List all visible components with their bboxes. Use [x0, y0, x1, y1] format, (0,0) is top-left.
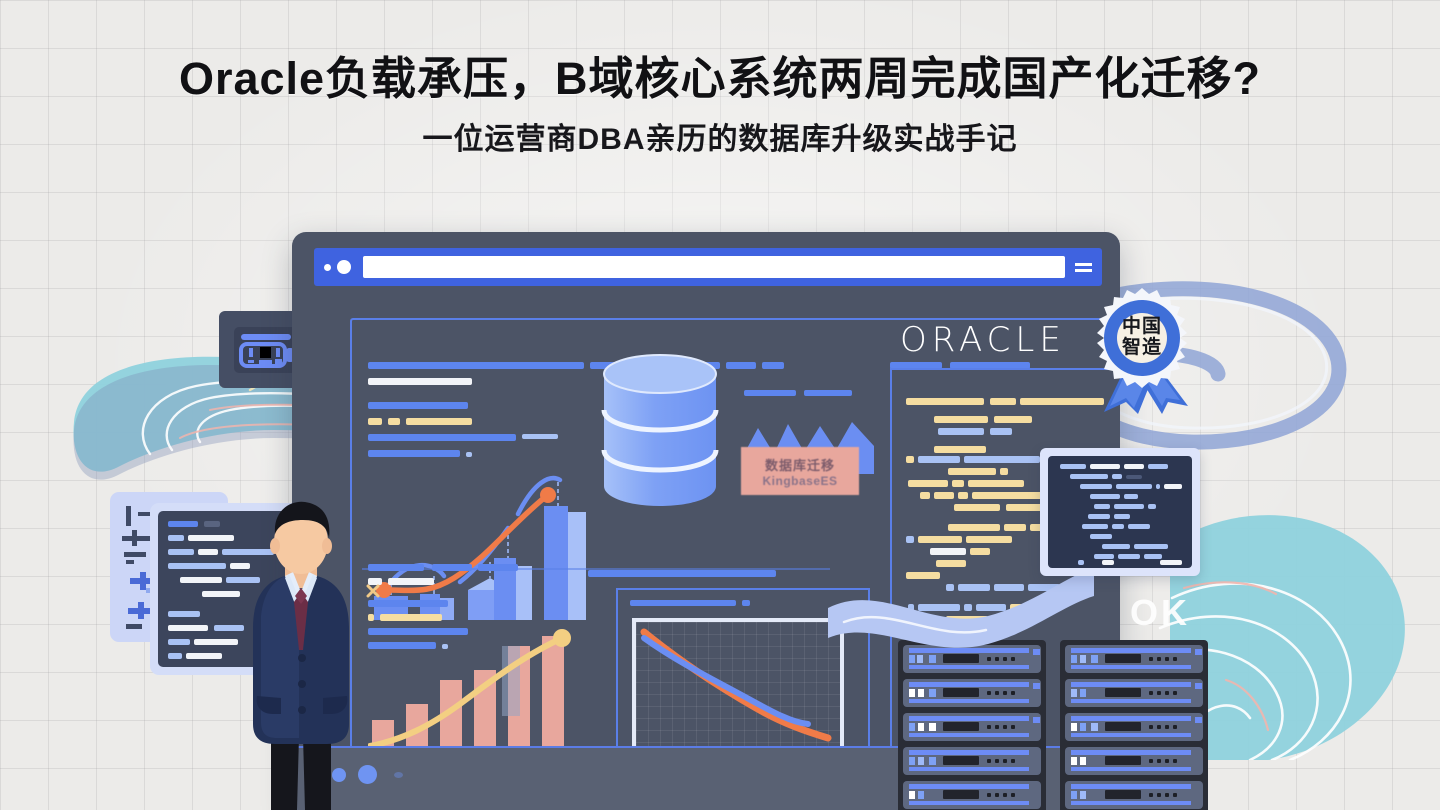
kingbase-label-cn: 数据库迁移	[765, 455, 835, 474]
latency-chart-plot	[632, 618, 844, 752]
businessman-avatar	[235, 500, 365, 810]
page-subtitle: 一位运营商DBA亲历的数据库升级实战手记	[0, 114, 1440, 158]
hamburger-menu-icon[interactable]	[1075, 263, 1092, 272]
server-unit	[1065, 781, 1203, 809]
terminal-screen	[1048, 456, 1192, 568]
poster-title-block: Oracle负载承压，B域核心系统两周完成国产化迁移? 一位运营商DBA亲历的数…	[0, 54, 1440, 158]
page-title: Oracle负载承压，B域核心系统两周完成国产化迁移?	[0, 54, 1440, 104]
kingbase-label: 数据库迁移 KingbaseES	[741, 447, 859, 495]
browser-titlebar[interactable]	[314, 248, 1102, 286]
server-unit	[1065, 747, 1203, 775]
window-dot-large[interactable]	[337, 260, 351, 274]
server-unit	[903, 713, 1041, 741]
database-cylinder-icon	[600, 352, 720, 510]
server-unit	[1065, 713, 1203, 741]
ok-status-text: OK	[1130, 592, 1190, 634]
footer-dot-3	[394, 772, 403, 778]
terminal-window[interactable]	[1040, 448, 1200, 576]
china-made-badge: 中国 智造	[1092, 288, 1200, 416]
kingbase-label-en: KingbaseES	[762, 474, 837, 488]
oracle-logo: ORACLE	[900, 320, 1066, 360]
address-bar-input[interactable]	[363, 256, 1065, 278]
window-dot-small[interactable]	[324, 264, 331, 271]
server-unit	[1065, 679, 1203, 707]
server-unit	[903, 679, 1041, 707]
server-unit	[903, 781, 1041, 809]
blue-flow-connector	[820, 560, 1100, 680]
server-unit	[903, 747, 1041, 775]
close-x-icon	[366, 584, 380, 598]
